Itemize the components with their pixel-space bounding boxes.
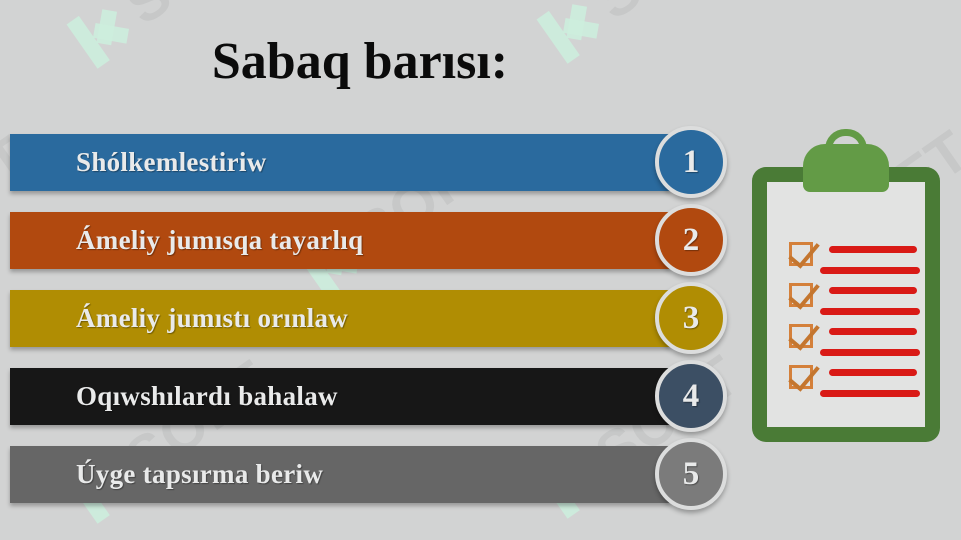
checklist-row <box>789 240 915 281</box>
checklist-row <box>789 322 915 363</box>
list-item[interactable]: Shólkemlestiriw 1 <box>0 134 760 212</box>
agenda-step-list: Shólkemlestiriw 1 Ámeliy jumısqa tayarlı… <box>0 134 760 524</box>
step-label-5: Úyge tapsırma beriw <box>76 459 323 490</box>
text-line <box>829 369 917 376</box>
step-label-3: Ámeliy jumıstı orınlaw <box>76 303 348 334</box>
list-item[interactable]: Ámeliy jumısqa tayarlıq 2 <box>0 212 760 290</box>
checklist-row <box>789 363 915 404</box>
text-line <box>820 349 920 356</box>
checkbox-checked-icon <box>789 365 813 389</box>
step-label-2: Ámeliy jumısqa tayarlıq <box>76 225 363 256</box>
step-number-badge-1[interactable]: 1 <box>655 126 727 198</box>
step-bar-2[interactable]: Ámeliy jumısqa tayarlıq <box>10 212 670 269</box>
text-line <box>829 328 917 335</box>
text-line <box>829 287 917 294</box>
step-label-4: Oqıwshılardı bahalaw <box>76 381 338 412</box>
presentation-slide: SOFT SOFT SOFT SOFT SOFT SOFT SOFT Sabaq… <box>0 0 961 540</box>
step-number-badge-2[interactable]: 2 <box>655 204 727 276</box>
watermark-text: SOFT <box>583 0 751 33</box>
text-line <box>820 267 920 274</box>
clipboard-board <box>752 167 940 442</box>
clipboard-clip <box>803 144 889 192</box>
list-item[interactable]: Ámeliy jumıstı orınlaw 3 <box>0 290 760 368</box>
clipboard-icon <box>752 167 940 442</box>
list-item[interactable]: Oqıwshılardı bahalaw 4 <box>0 368 760 446</box>
checkbox-checked-icon <box>789 242 813 266</box>
text-line <box>820 308 920 315</box>
step-number-badge-3[interactable]: 3 <box>655 282 727 354</box>
step-number-badge-5[interactable]: 5 <box>655 438 727 510</box>
text-line <box>820 390 920 397</box>
text-line <box>829 246 917 253</box>
page-title: Sabaq barısı: <box>0 32 720 91</box>
step-bar-1[interactable]: Shólkemlestiriw <box>10 134 670 191</box>
step-bar-5[interactable]: Úyge tapsırma beriw <box>10 446 670 503</box>
checkbox-checked-icon <box>789 283 813 307</box>
step-bar-4[interactable]: Oqıwshılardı bahalaw <box>10 368 670 425</box>
step-bar-3[interactable]: Ámeliy jumıstı orınlaw <box>10 290 670 347</box>
step-label-1: Shólkemlestiriw <box>76 147 267 178</box>
checkbox-checked-icon <box>789 324 813 348</box>
step-number-badge-4[interactable]: 4 <box>655 360 727 432</box>
clipboard-checklist <box>789 240 915 404</box>
list-item[interactable]: Úyge tapsırma beriw 5 <box>0 446 760 524</box>
clipboard-paper <box>767 182 925 427</box>
checklist-row <box>789 281 915 322</box>
